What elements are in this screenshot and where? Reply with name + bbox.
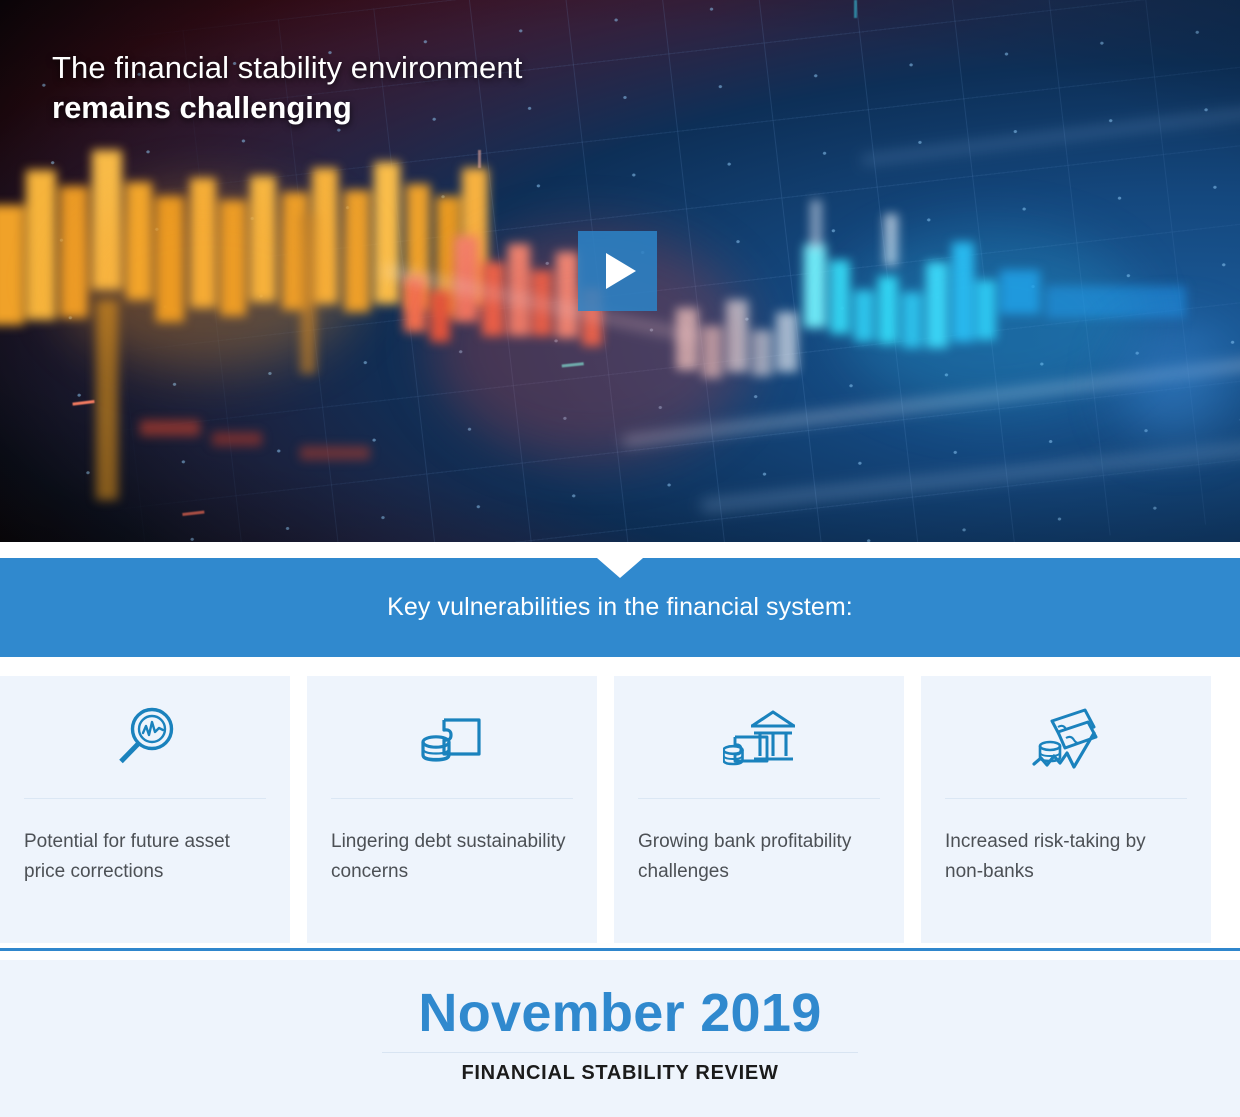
card-label: Potential for future asset price correct… [0, 799, 290, 888]
hero-title-line1: The financial stability environment [52, 50, 522, 86]
vulnerability-card[interactable]: Increased risk-taking by non-banks [921, 676, 1211, 943]
footer: November 2019 FINANCIAL STABILITY REVIEW [0, 960, 1240, 1117]
hero-title: The financial stability environment rema… [52, 50, 522, 126]
hero-title-line2: remains challenging [52, 90, 522, 126]
video-play-button[interactable] [578, 231, 657, 311]
coins-puzzle-icon [307, 676, 597, 788]
publication-subtitle: FINANCIAL STABILITY REVIEW [461, 1062, 778, 1085]
footer-divider [0, 943, 1240, 960]
vulnerability-cards: Potential for future asset price correct… [0, 657, 1240, 943]
hero-banner: The financial stability environment rema… [0, 0, 1240, 542]
vulnerability-card[interactable]: Potential for future asset price correct… [0, 676, 290, 943]
card-label: Growing bank profitability challenges [614, 799, 904, 888]
play-icon [606, 253, 636, 289]
banner-heading: Key vulnerabilities in the financial sys… [387, 593, 853, 622]
key-vulnerabilities-banner: Key vulnerabilities in the financial sys… [0, 542, 1240, 657]
footer-rule [382, 1052, 858, 1053]
banknotes-coins-trend-icon [921, 676, 1211, 788]
banner-notch-icon [597, 558, 643, 578]
bank-coins-puzzle-icon [614, 676, 904, 788]
publication-date: November 2019 [418, 982, 821, 1044]
vulnerability-card[interactable]: Lingering debt sustainability concerns [307, 676, 597, 943]
vulnerability-card[interactable]: Growing bank profitability challenges [614, 676, 904, 943]
card-label: Lingering debt sustainability concerns [307, 799, 597, 888]
card-label: Increased risk-taking by non-banks [921, 799, 1211, 888]
magnifier-chart-icon [0, 676, 290, 788]
